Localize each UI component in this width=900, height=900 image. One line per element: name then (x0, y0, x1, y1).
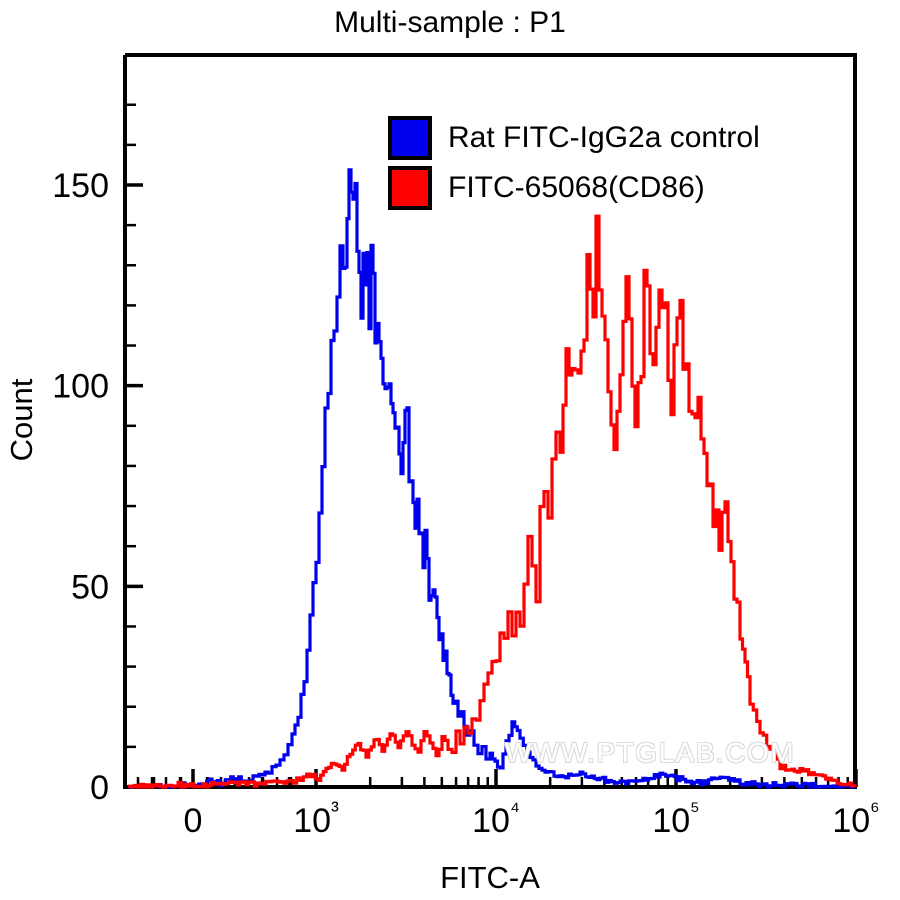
y-axis-title: Count (4, 378, 39, 461)
x-axis-tick-label: 10⁶ (832, 797, 879, 840)
x-axis-tick-label: 10⁵ (652, 797, 699, 840)
blue-square-swatch (388, 116, 432, 160)
y-axis-tick-label: 50 (71, 568, 109, 606)
flow-cytometry-histogram-window: Multi-sample : P1 010³10⁴10⁵10⁶ 05010015… (0, 0, 900, 900)
y-axis-tick-label: 150 (52, 167, 109, 205)
y-axis-ticks (125, 105, 143, 787)
histogram-traces (128, 170, 855, 787)
legend-item[interactable]: Rat FITC-IgG2a control (388, 116, 760, 160)
legend-item-label: FITC-65068(CD86) (448, 173, 705, 203)
x-axis-tick-label: 10³ (293, 797, 339, 840)
x-axis-title: FITC-A (440, 860, 540, 895)
red-square-swatch (388, 166, 432, 210)
x-axis-tick-labels: 010³10⁴10⁵10⁶ (184, 797, 880, 840)
y-axis-tick-labels: 050100150 (52, 167, 109, 807)
y-axis-tick-label: 100 (52, 368, 109, 406)
x-axis-tick-label: 0 (184, 802, 203, 840)
x-axis-tick-label: 10⁴ (472, 797, 520, 840)
legend-item[interactable]: FITC-65068(CD86) (388, 166, 760, 210)
legend: Rat FITC-IgG2a control FITC-65068(CD86) (388, 116, 760, 210)
histogram-trace (128, 170, 855, 787)
y-axis-tick-label: 0 (90, 769, 109, 807)
histogram-trace (128, 216, 855, 787)
legend-item-label: Rat FITC-IgG2a control (448, 123, 760, 153)
